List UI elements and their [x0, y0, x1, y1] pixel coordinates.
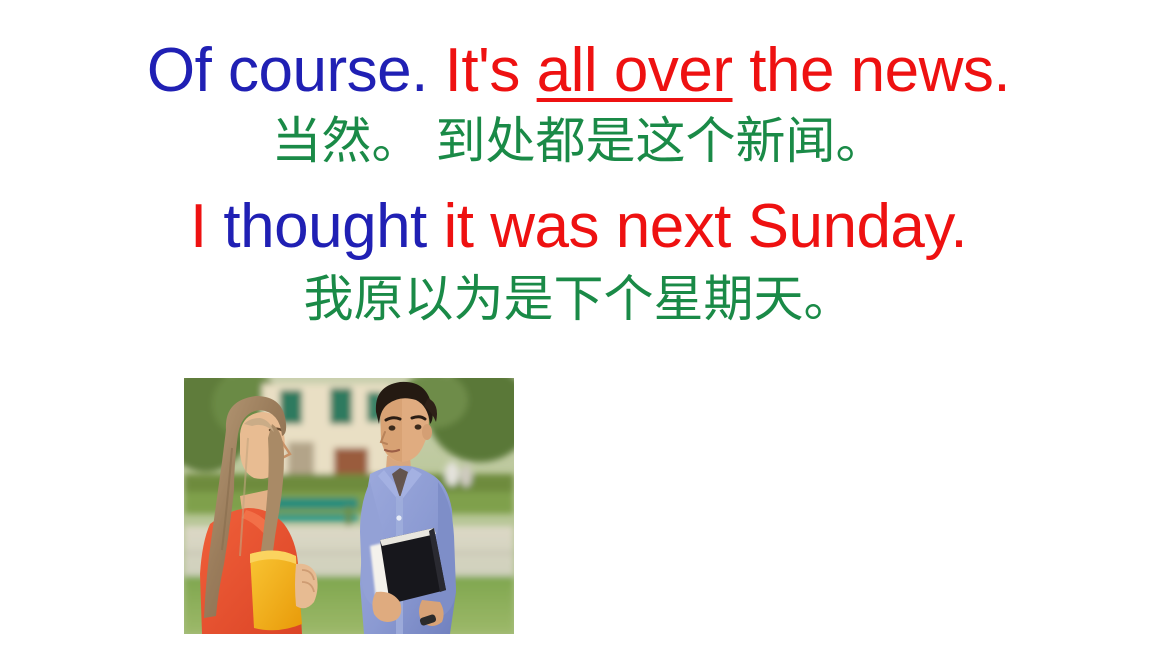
line3-space-1 [207, 192, 224, 261]
dialogue-line-english-1: Of course. It's all over the news. [0, 36, 1157, 102]
slide-canvas: Of course. It's all over the news. 当然。 到… [0, 0, 1157, 672]
line3-red-pronoun: I [190, 192, 207, 261]
line1-blue-segment: Of course. [147, 36, 428, 105]
line1-space-2 [520, 36, 537, 105]
line1-underlined-phrase: all over [537, 36, 733, 105]
dialogue-line-english-2: I thought it was next Sunday. [0, 196, 1157, 258]
line3-space-2 [427, 192, 444, 261]
photo-illustration [184, 378, 514, 634]
line1-space-1 [428, 36, 445, 105]
conversation-photo [184, 378, 514, 634]
dialogue-line-chinese-2: 我原以为是下个星期天。 [0, 274, 1157, 324]
dialogue-text-block: Of course. It's all over the news. 当然。 到… [0, 36, 1157, 324]
line3-blue-verb: thought [223, 192, 426, 261]
line1-red-suffix: the news. [749, 36, 1010, 105]
line1-red-prefix: It's [445, 36, 520, 105]
line3-red-remainder: it was next Sunday. [444, 192, 968, 261]
dialogue-line-chinese-1: 当然。 到处都是这个新闻。 [0, 116, 1157, 166]
line1-space-3 [733, 36, 750, 105]
